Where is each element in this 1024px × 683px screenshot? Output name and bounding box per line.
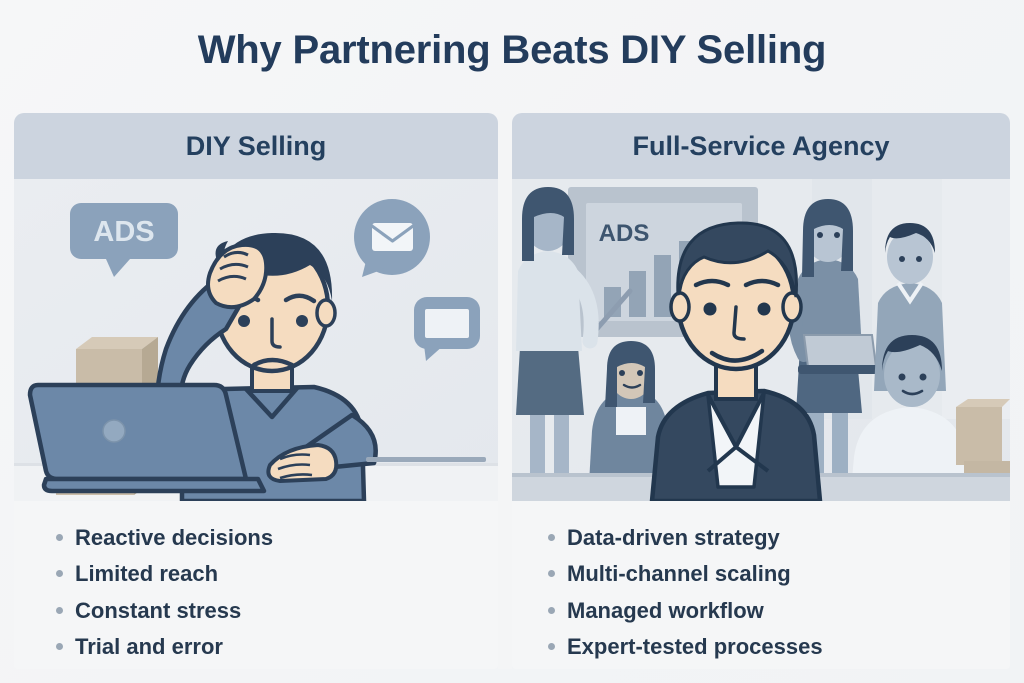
- bullet-dot-icon: [56, 607, 63, 614]
- list-item: Constant stress: [14, 598, 498, 623]
- bullet-label: Multi-channel scaling: [567, 561, 791, 586]
- panel-divider: [498, 113, 512, 669]
- bullet-label: Data-driven strategy: [567, 525, 780, 550]
- list-item: Reactive decisions: [14, 525, 498, 550]
- bullet-dot-icon: [548, 534, 555, 541]
- column-header-label-diy: DIY Selling: [186, 131, 327, 162]
- column-diy-selling: DIY Selling: [14, 113, 498, 669]
- list-item: Data-driven strategy: [512, 525, 1010, 550]
- bullet-label: Managed workflow: [567, 598, 764, 623]
- illustration-agency-team: ADS: [512, 179, 1010, 501]
- bullet-label: Limited reach: [75, 561, 218, 586]
- infographic-canvas: Why Partnering Beats DIY Selling DIY Sel…: [0, 0, 1024, 683]
- list-item: Limited reach: [14, 561, 498, 586]
- list-item: Expert-tested processes: [512, 634, 1010, 659]
- bullet-label: Trial and error: [75, 634, 223, 659]
- list-item: Multi-channel scaling: [512, 561, 1010, 586]
- svg-text:ADS: ADS: [93, 216, 154, 248]
- bullet-dot-icon: [548, 570, 555, 577]
- bullet-label: Constant stress: [75, 598, 241, 623]
- bullet-dot-icon: [56, 570, 63, 577]
- bullet-label: Reactive decisions: [75, 525, 273, 550]
- bullet-list-diy: Reactive decisions Limited reach Constan…: [14, 501, 498, 669]
- bullet-dot-icon: [548, 607, 555, 614]
- list-item: Managed workflow: [512, 598, 1010, 623]
- bullet-list-agency: Data-driven strategy Multi-channel scali…: [512, 501, 1010, 669]
- bullet-dot-icon: [56, 534, 63, 541]
- column-full-service-agency: Full-Service Agency: [512, 113, 1010, 669]
- bullet-dot-icon: [56, 643, 63, 650]
- column-header-agency: Full-Service Agency: [512, 113, 1010, 179]
- column-header-diy: DIY Selling: [14, 113, 498, 179]
- list-item: Trial and error: [14, 634, 498, 659]
- svg-text:ADS: ADS: [599, 220, 650, 247]
- page-title: Why Partnering Beats DIY Selling: [0, 28, 1024, 72]
- illustration-diy-selling: ADS: [14, 179, 498, 501]
- column-header-label-agency: Full-Service Agency: [632, 131, 889, 162]
- bullet-label: Expert-tested processes: [567, 634, 823, 659]
- bullet-dot-icon: [548, 643, 555, 650]
